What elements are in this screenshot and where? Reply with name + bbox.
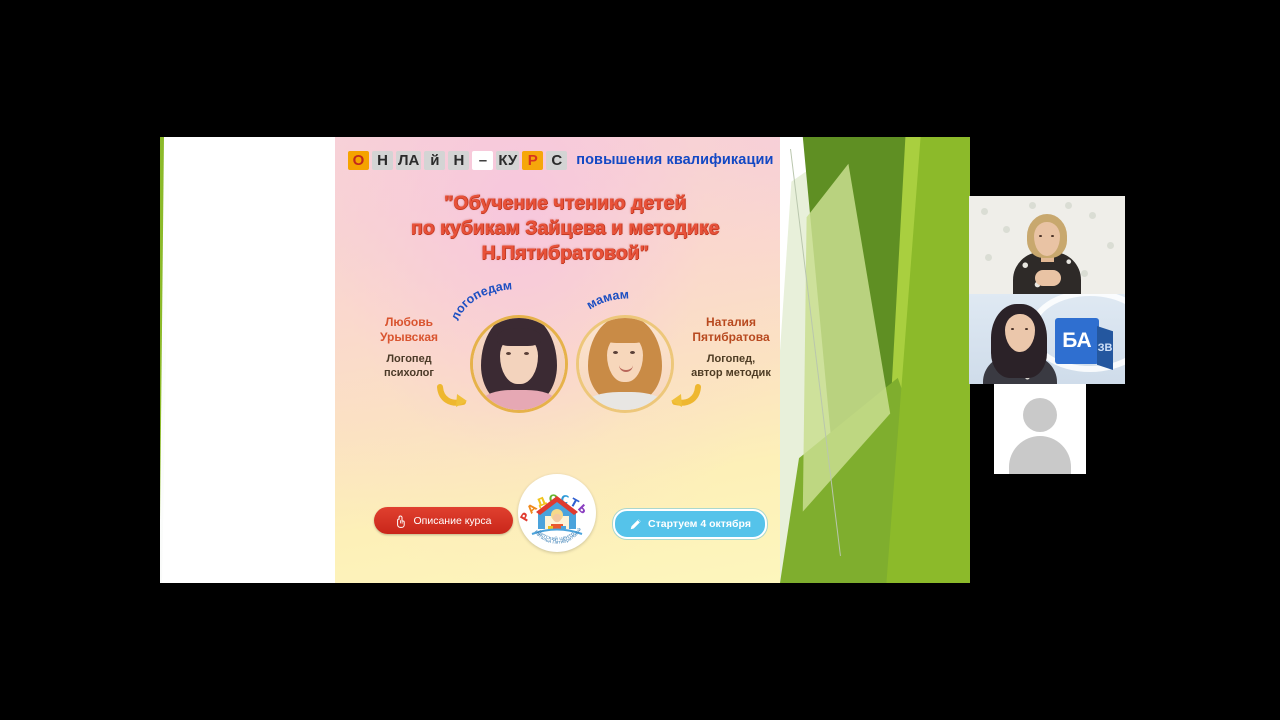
pointing-hand-icon — [395, 514, 408, 528]
expert-left-role-line-1: Логопед — [353, 353, 465, 367]
tile-1-hands — [1035, 270, 1061, 286]
header-tail-text: повышения квалификации — [576, 152, 773, 168]
header-cube-5: Н — [448, 151, 469, 170]
slide-right-geometry — [780, 137, 970, 583]
presentation-slide: О Н ЛА й Н – КУ Р С повышения квалификац… — [160, 137, 970, 583]
portrait-image-left — [473, 318, 565, 410]
cube-side-face: ЗВ — [1097, 326, 1113, 370]
participant-tile-1[interactable] — [969, 196, 1125, 294]
decorative-arrow-right-icon — [667, 383, 701, 409]
expert-right-role-line-2: автор методик — [675, 367, 787, 381]
expert-right-name-line-2: Пятибратова — [675, 330, 787, 345]
tile-1-eye-right — [1051, 235, 1054, 237]
audience-label-right: мамам — [561, 297, 691, 331]
course-description-button-label: Описание курса — [413, 515, 491, 527]
participant-tile-2[interactable]: БА ЗВ — [969, 294, 1125, 384]
header-cube-6: – — [472, 151, 493, 170]
expert-left-name-line-1: Любовь — [353, 315, 465, 330]
portrait-shoulders — [483, 390, 555, 413]
portrait-eye-left — [613, 351, 618, 354]
slide-left-white-panel-2 — [160, 137, 338, 583]
tile-2-eye-right — [1025, 328, 1028, 330]
tile-1-eye-left — [1039, 235, 1042, 237]
portrait-eye-right — [630, 351, 635, 354]
expert-left-role: Логопед психолог — [353, 353, 465, 381]
header-cube-9: С — [546, 151, 567, 170]
participant-tile-3[interactable] — [994, 384, 1086, 474]
header-cube-3: ЛА — [396, 151, 421, 170]
header-cube-2: Н — [372, 151, 393, 170]
expert-left-name: Любовь Урывская — [353, 315, 465, 345]
brand-logo: РАДОСТЬ МОЯ Детский центр Натальи Пятибр… — [518, 474, 596, 552]
tile-1-person — [1013, 214, 1081, 294]
avatar-head-icon — [1023, 398, 1057, 432]
header-cube-7: КУ — [496, 151, 519, 170]
course-start-button-label: Стартуем 4 октября — [648, 518, 751, 530]
header-cube-1: О — [348, 151, 369, 170]
tile-2-teaching-cube: БА ЗВ — [1055, 310, 1115, 372]
expert-right-info: Наталия Пятибратова Логопед, автор метод… — [675, 315, 787, 381]
slide-title-line-3: Н.Пятибратовой" — [350, 241, 780, 266]
slide-title-line-1: "Обучение чтению детей — [350, 191, 780, 216]
experts-row: Любовь Урывская Логопед психолог Наталия… — [345, 297, 795, 427]
slide-title-line-2: по кубикам Зайцева и методике — [350, 216, 780, 241]
portrait-eye-right — [524, 352, 529, 355]
expert-right-role-line-1: Логопед, — [675, 353, 787, 367]
portrait-image-right — [579, 318, 671, 410]
slide-title: "Обучение чтению детей по кубикам Зайцев… — [350, 191, 780, 266]
cube-front-face: БА — [1055, 318, 1099, 364]
slide-header: О Н ЛА й Н – КУ Р С повышения квалификац… — [348, 145, 780, 175]
course-description-button[interactable]: Описание курса — [374, 507, 513, 534]
tile-2-eye-left — [1011, 328, 1014, 330]
portrait-eye-left — [506, 352, 511, 355]
header-cube-8: Р — [522, 151, 543, 170]
portrait-shoulders — [587, 392, 663, 413]
expert-left-role-line-2: психолог — [353, 367, 465, 381]
tile-2-person — [983, 304, 1057, 384]
expert-left-name-line-2: Урывская — [353, 330, 465, 345]
expert-right-name-line-1: Наталия — [675, 315, 787, 330]
course-start-button[interactable]: Стартуем 4 октября — [613, 509, 767, 539]
screen-share-view: О Н ЛА й Н – КУ Р С повышения квалификац… — [0, 0, 1280, 720]
expert-right-name: Наталия Пятибратова — [675, 315, 787, 345]
pencil-icon — [629, 518, 642, 531]
participant-video-column: БА ЗВ — [969, 196, 1125, 486]
expert-right-role: Логопед, автор методик — [675, 353, 787, 381]
avatar-body-icon — [1009, 436, 1071, 474]
expert-left-info: Любовь Урывская Логопед психолог — [353, 315, 465, 381]
header-cube-4: й — [424, 151, 445, 170]
decorative-arrow-left-icon — [437, 383, 471, 409]
